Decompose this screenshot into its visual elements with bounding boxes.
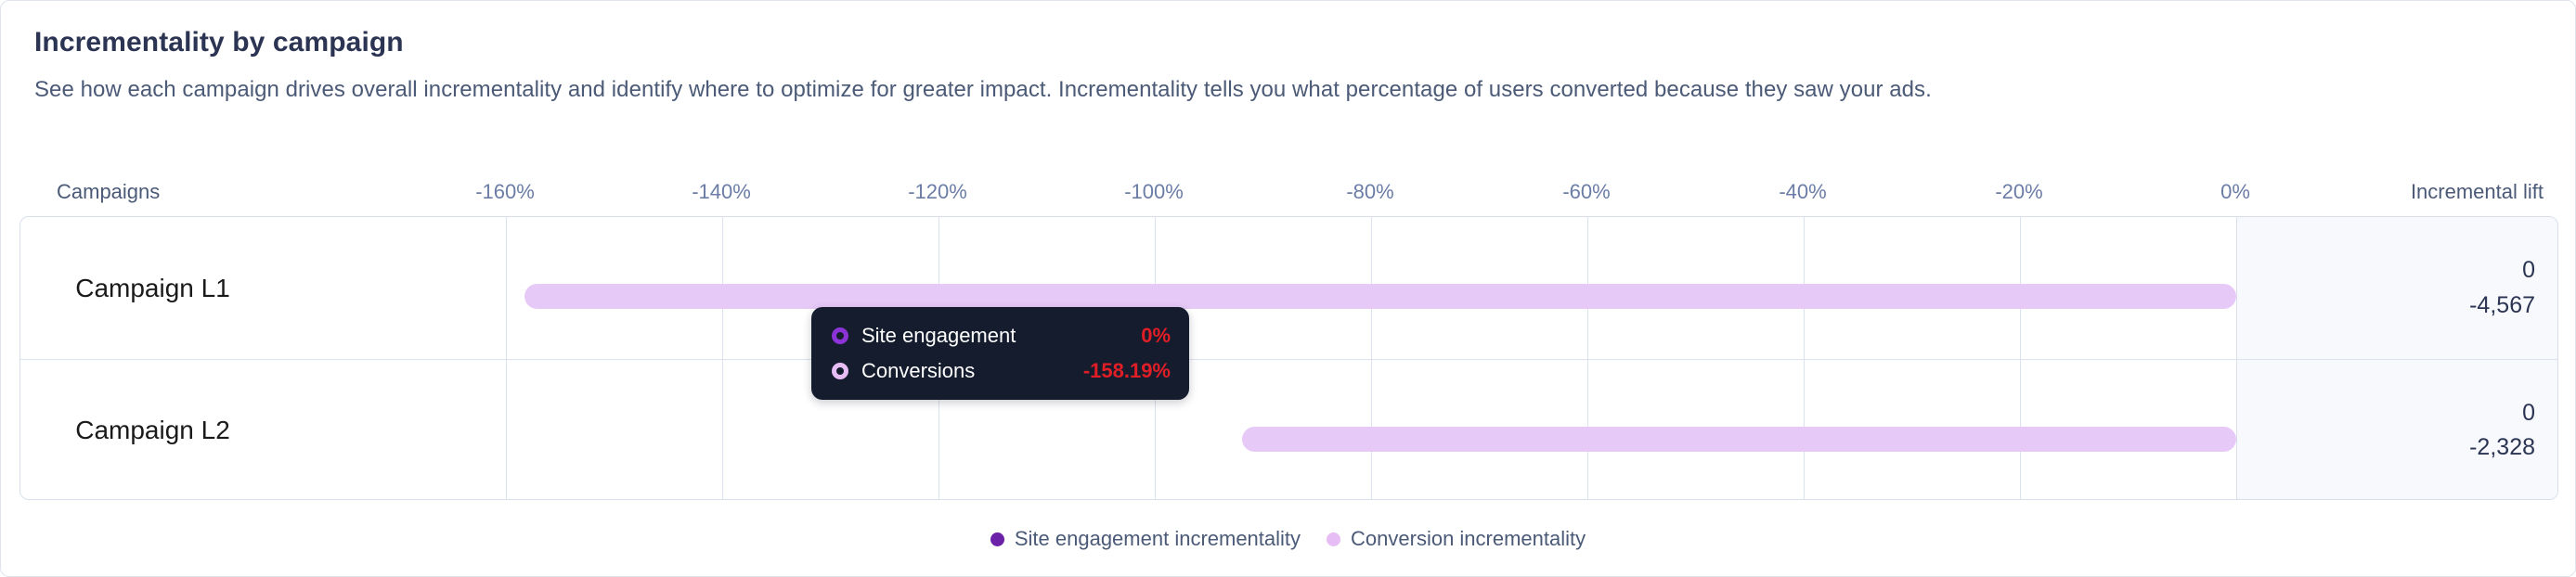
tooltip-value: -158.19%: [1083, 359, 1171, 383]
table-row[interactable]: Campaign L1 0 -4,567: [20, 217, 2557, 359]
tooltip-row-conversions: Conversions -158.19%: [832, 357, 1171, 385]
axis-tick-2: -120%: [908, 180, 967, 204]
axis-tick-3: -100%: [1124, 180, 1184, 204]
legend-label: Conversion incrementality: [1351, 527, 1586, 551]
legend-item-conversion[interactable]: Conversion incrementality: [1327, 527, 1586, 551]
tooltip-value: 0%: [1141, 324, 1171, 348]
chart-tooltip: Site engagement 0% Conversions -158.19%: [811, 307, 1189, 400]
legend-item-site-engagement[interactable]: Site engagement incrementality: [990, 527, 1301, 551]
legend-dot-icon: [1327, 532, 1340, 546]
axis-tick-4: -80%: [1346, 180, 1393, 204]
page-title: Incrementality by campaign: [34, 27, 404, 58]
axis-tick-6: -40%: [1779, 180, 1826, 204]
tooltip-row-site-engagement: Site engagement 0%: [832, 322, 1171, 350]
site-engagement-lift-value: 0: [2522, 401, 2535, 427]
incrementality-card: Incrementality by campaign See how each …: [0, 0, 2576, 577]
legend-dot-icon: [990, 532, 1004, 546]
conversion-lift-value: -4,567: [2469, 293, 2535, 319]
row-lift-values: 0 -2,328: [2469, 360, 2535, 500]
site-engagement-lift-value: 0: [2522, 258, 2535, 284]
row-label-campaign: Campaign L1: [20, 217, 285, 359]
conversion-lift-value: -2,328: [2469, 435, 2535, 461]
axis-tick-8: 0%: [2220, 180, 2250, 204]
bar-conversion-incrementality[interactable]: [1242, 427, 2236, 452]
incrementality-table: Campaign L1 0 -4,567 Campaign L2 0 -2,32…: [19, 216, 2558, 500]
site-engagement-marker-icon: [832, 327, 848, 344]
legend-label: Site engagement incrementality: [1015, 527, 1301, 551]
row-lift-values: 0 -4,567: [2469, 217, 2535, 359]
bar-conversion-incrementality[interactable]: [524, 284, 2236, 309]
axis-label-incremental-lift: Incremental lift: [2411, 180, 2544, 204]
axis-tick-5: -60%: [1562, 180, 1610, 204]
tooltip-label: Conversions: [861, 359, 975, 383]
page-subtitle: See how each campaign drives overall inc…: [34, 77, 1932, 103]
axis-tick-0: -160%: [475, 180, 535, 204]
chart-legend: Site engagement incrementality Conversio…: [1, 522, 2575, 556]
conversions-marker-icon: [832, 363, 848, 379]
axis-tick-1: -140%: [692, 180, 751, 204]
axis-label-campaigns: Campaigns: [57, 180, 160, 204]
row-label-campaign: Campaign L2: [20, 360, 285, 500]
tooltip-label: Site engagement: [861, 324, 1016, 348]
axis-tick-7: -20%: [1995, 180, 2042, 204]
axis-header: Campaigns -160% -140% -120% -100% -80% -…: [1, 180, 2576, 212]
table-row[interactable]: Campaign L2 0 -2,328: [20, 359, 2557, 500]
